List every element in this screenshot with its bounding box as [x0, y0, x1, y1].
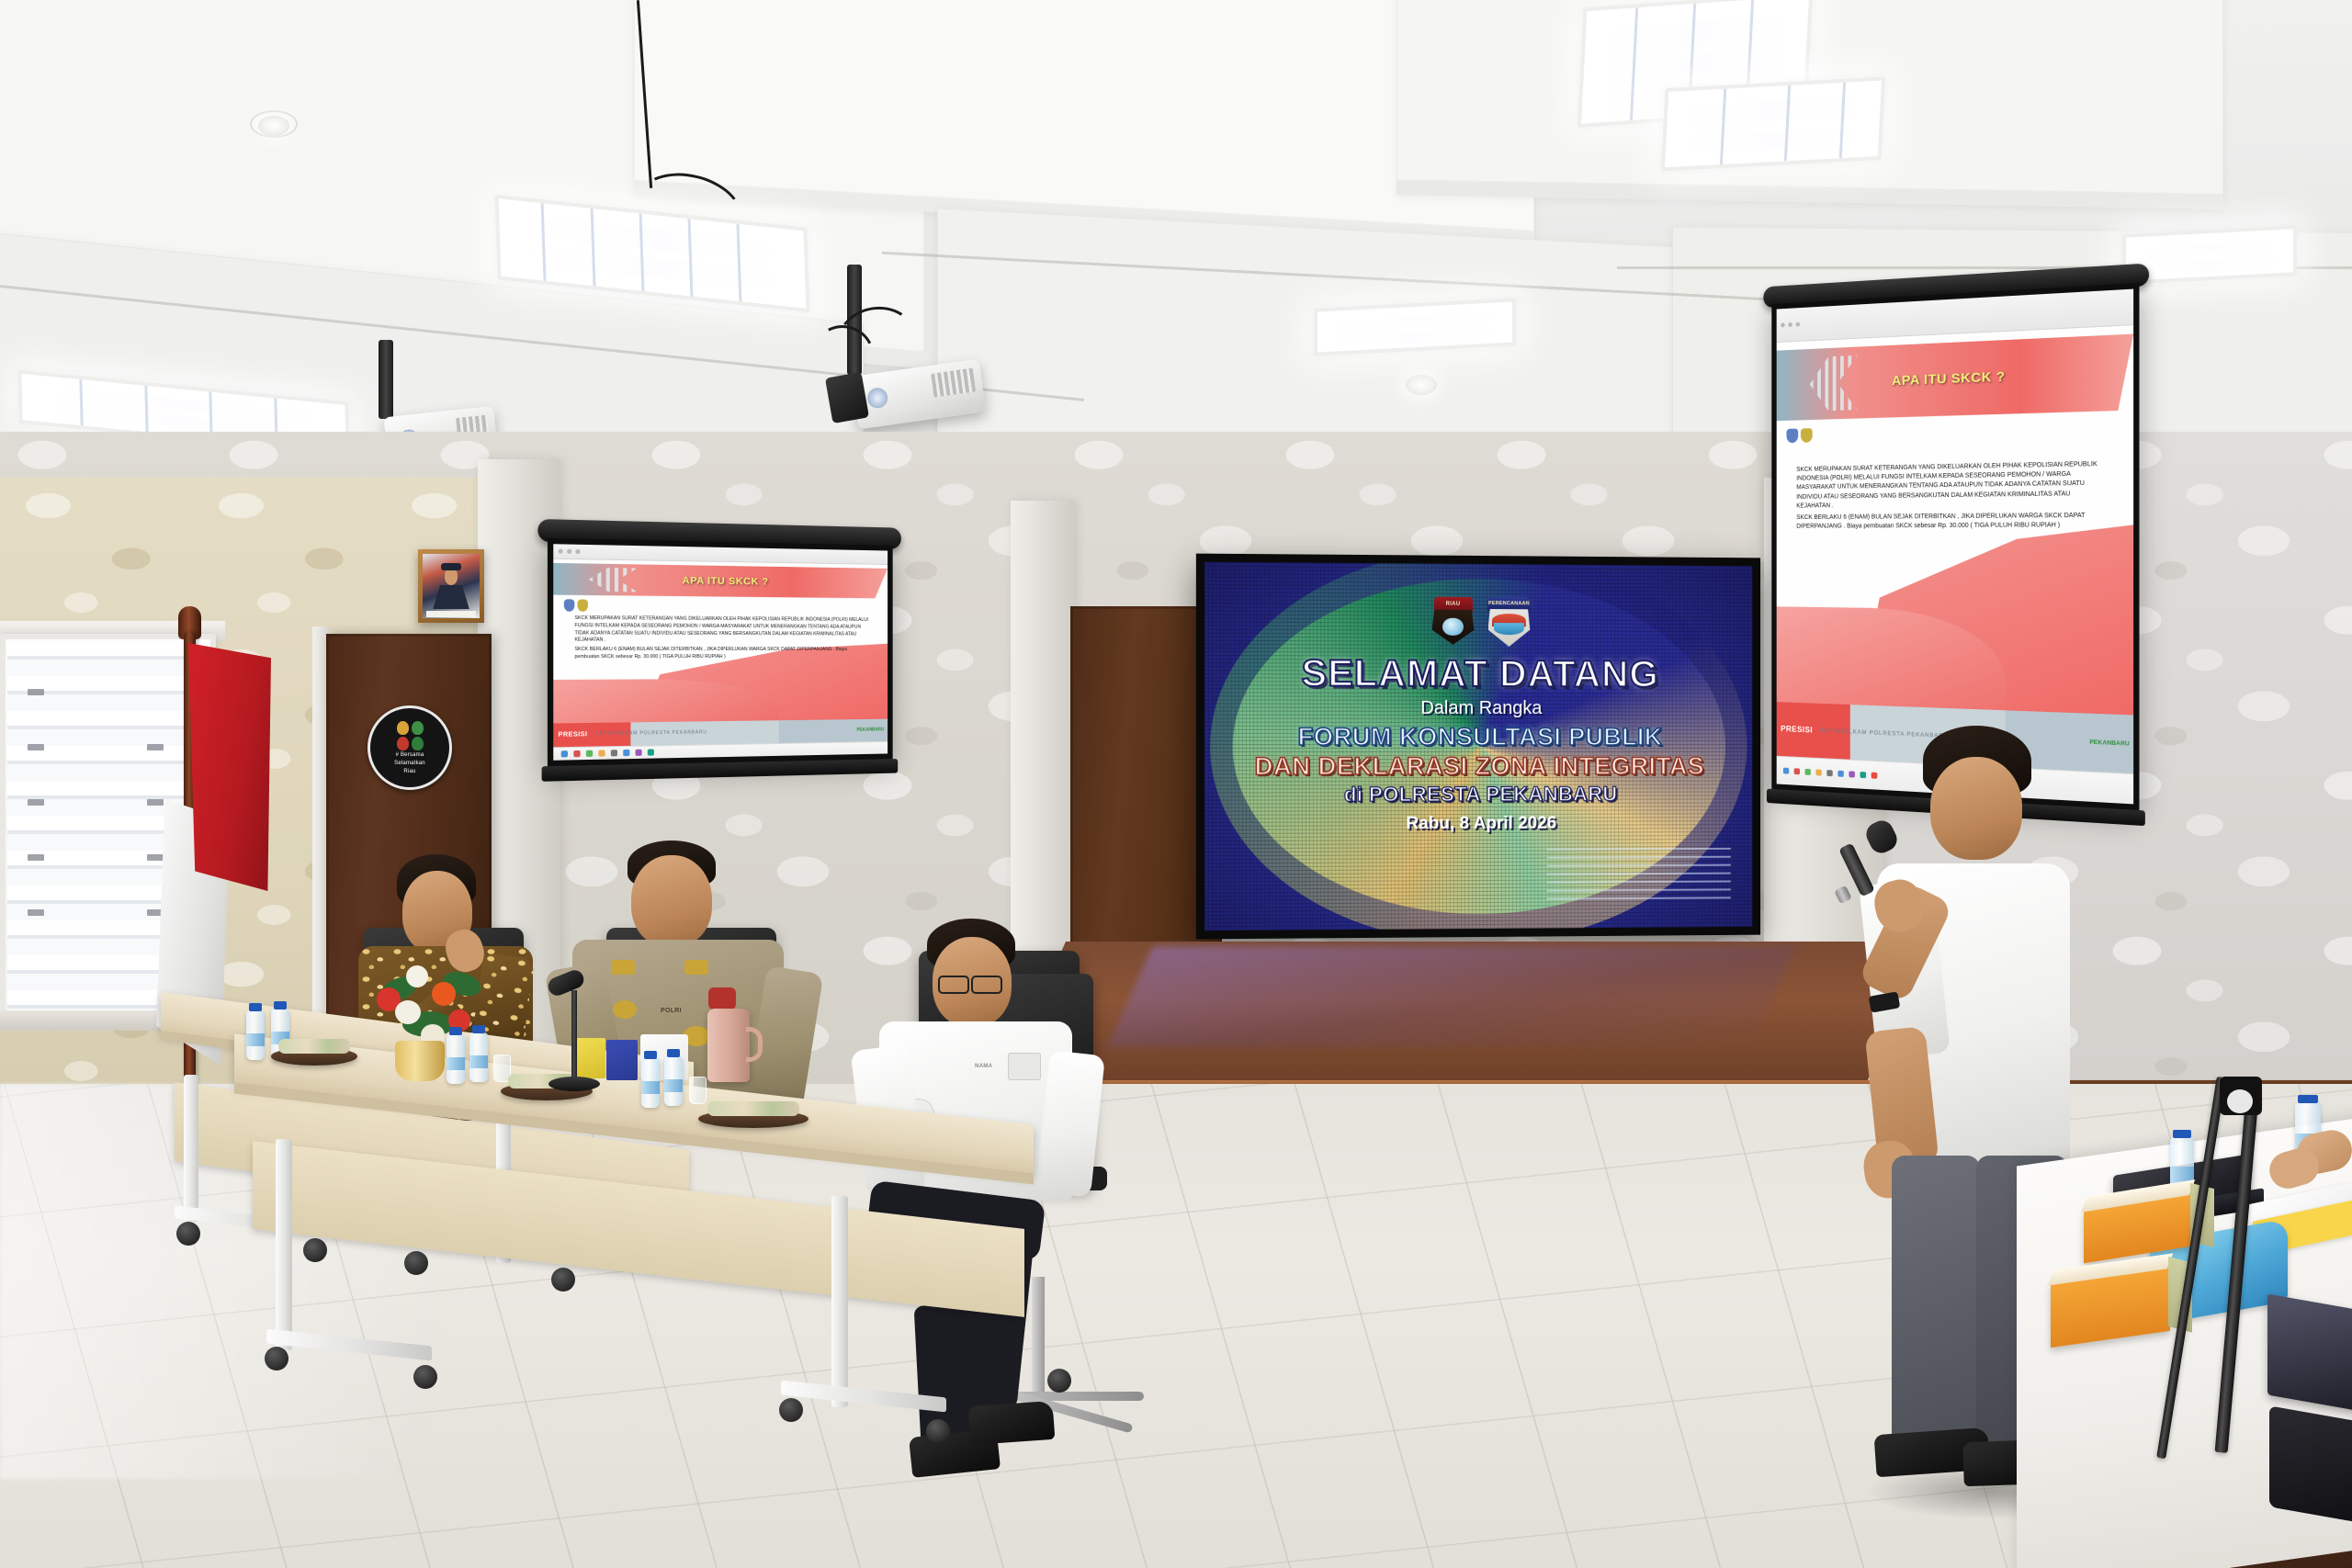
slide-emblems: [564, 599, 588, 612]
nameplate: NAMA: [975, 1064, 992, 1069]
slide-footer-tag: PEKANBARU: [857, 728, 888, 733]
water-bottle: [447, 1034, 465, 1084]
emblem-left-label: RIAU: [1433, 596, 1472, 611]
snack-tray: [271, 1047, 357, 1066]
slide-paragraph-1: SKCK MERUPAKAN SURAT KETERANGAN YANG DIK…: [574, 615, 868, 644]
stage-reflection: [1108, 946, 1796, 1047]
table-caster: [413, 1365, 437, 1389]
shirt-emblem: [1008, 1053, 1041, 1080]
ceiling-light-panel: [1661, 76, 1885, 171]
led-emblems: RIAU PERENCANAAN: [1431, 596, 1531, 647]
thermos-flask: [707, 1009, 750, 1082]
eyeglasses: [971, 976, 1002, 994]
door-sticker-line3: Riau: [403, 769, 415, 775]
framed-portrait: [418, 549, 484, 623]
table-caster: [926, 1419, 950, 1443]
boom-stand-knob[interactable]: [2227, 1089, 2253, 1113]
flower-vase: [395, 1041, 445, 1081]
ceiling-downlight: [258, 116, 289, 136]
slide-paragraph-1: SKCK MERUPAKAN SURAT KETERANGAN YANG DIK…: [1796, 460, 2110, 511]
water-bottle: [641, 1058, 660, 1108]
led-subtitle: Dalam Rangka: [1420, 698, 1542, 719]
unit-badge: [613, 1000, 637, 1019]
slide-footer-tag: PEKANBARU: [2089, 739, 2133, 747]
slide-paragraph-2: SKCK BERLAKU 6 (ENAM) BULAN SEJAK DITERB…: [1796, 512, 2110, 532]
slide-footer-brand: PRESISI: [553, 731, 587, 739]
door-sticker-line1: # Bersama: [396, 752, 424, 759]
uniform-text-polri: POLRI: [661, 1008, 682, 1014]
slide-paragraph-2: SKCK BERLAKU 6 (ENAM) BULAN SEJAK DITERB…: [574, 647, 868, 660]
slide-emblems: [1786, 428, 1812, 443]
ceiling-downlight: [1406, 375, 1437, 395]
meeting-room-photo: # Bersama Selamatkan Riau APA ITU SKCK ?: [0, 0, 2352, 1568]
emblem-right-label: PERENCANAAN: [1487, 597, 1531, 611]
trousers: [1892, 1156, 1980, 1459]
water-bottle: [664, 1056, 683, 1106]
table-caster: [176, 1222, 200, 1246]
led-venue-line: di POLRESTA PEKANBARU: [1344, 783, 1618, 807]
table-caster: [404, 1251, 428, 1275]
unit-badge: [708, 987, 736, 1010]
slide-right: APA ITU SKCK ? SKCK MERUPAKAN SURAT KETE…: [1777, 289, 2133, 805]
led-welcome-heading: SELAMAT DATANG: [1301, 651, 1658, 695]
table-caster: [551, 1268, 575, 1292]
slide-footer-unit: SAT INTELKAM POLRESTA PEKANBARU: [1813, 728, 1949, 739]
polda-riau-emblem-icon: RIAU: [1431, 596, 1474, 644]
snack-tray: [698, 1110, 808, 1128]
led-event-line2: DAN DEKLARASI ZONA INTEGRITAS: [1255, 752, 1704, 781]
table-caster: [303, 1238, 327, 1262]
led-screen: RIAU PERENCANAAN SELAMAT DATANG Dalam Ra…: [1204, 562, 1752, 931]
led-event-line1: FORUM KONSULTASI PUBLIK: [1298, 723, 1663, 751]
rank-patch: [684, 960, 708, 975]
projection-screen-left: APA ITU SKCK ? SKCK MERUPAKAN SURAT KETE…: [548, 538, 893, 766]
table-caster: [265, 1347, 288, 1371]
water-bottle: [246, 1010, 265, 1060]
juice-carton: [574, 1038, 605, 1078]
led-video-wall: RIAU PERENCANAAN SELAMAT DATANG Dalam Ra…: [1196, 554, 1760, 940]
slide-left: APA ITU SKCK ? SKCK MERUPAKAN SURAT KETE…: [553, 544, 888, 761]
slide-footer-unit: SAT INTELKAM POLRESTA PEKANBARU: [587, 730, 707, 738]
slide-footer-brand: PRESISI: [1777, 724, 1813, 734]
chair-caster: [1047, 1369, 1071, 1393]
shoe: [968, 1401, 1056, 1445]
water-bottle: [469, 1032, 488, 1082]
drinking-glass: [689, 1077, 707, 1104]
led-event-date: Rabu, 8 April 2026: [1406, 814, 1556, 835]
table-caster: [779, 1398, 803, 1422]
door-sticker: # Bersama Selamatkan Riau: [367, 705, 452, 790]
slide-title: APA ITU SKCK ?: [683, 575, 769, 587]
rank-patch: [611, 960, 635, 975]
juice-carton: [606, 1040, 638, 1080]
perencanaan-badge-icon: PERENCANAAN: [1487, 597, 1531, 647]
slide-title: APA ITU SKCK ?: [1892, 369, 2006, 389]
equipment-case: [2269, 1405, 2352, 1524]
eyeglasses: [938, 976, 969, 994]
led-glitch-bars: [1547, 848, 1731, 907]
door-sticker-line2: Selamatkan: [394, 761, 425, 767]
